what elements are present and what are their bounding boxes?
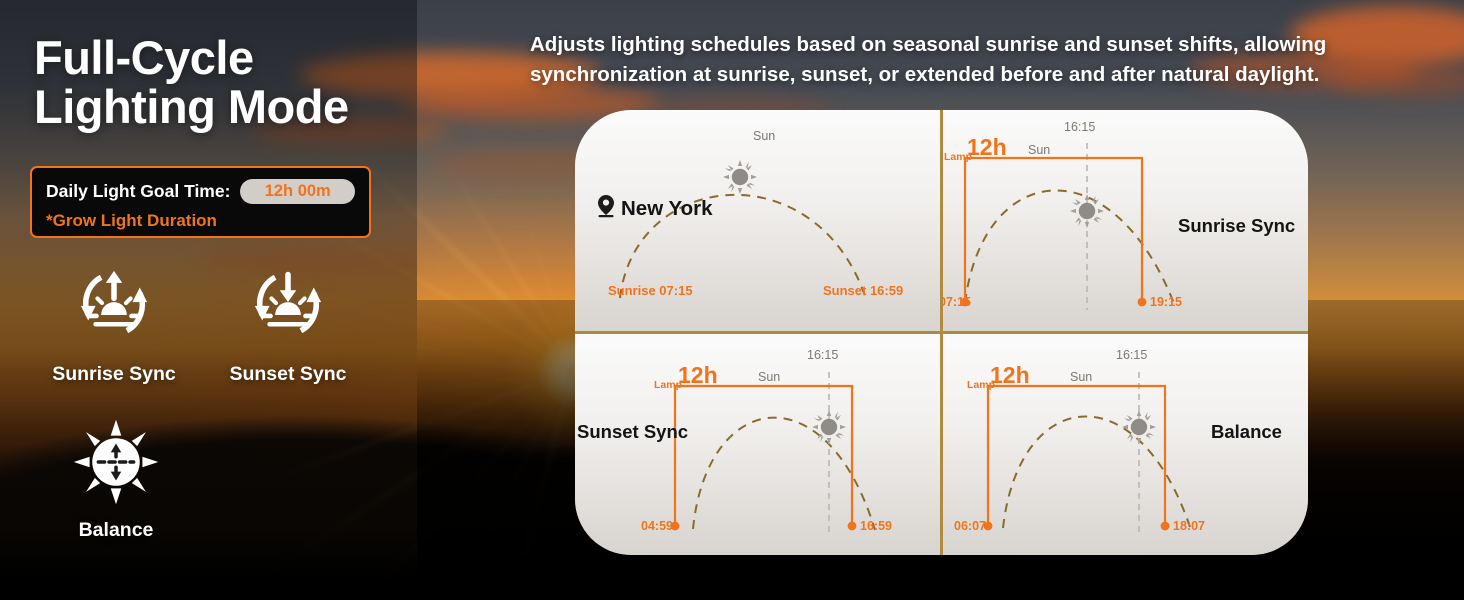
sun-glyph-icon [1070,194,1104,233]
page-title-line1: Full-Cycle [34,31,254,84]
sun-label: Sun [1028,143,1050,157]
sun-label: Sun [758,370,780,384]
marker-time-label: 16:15 [1064,120,1095,134]
panel-mode-name: Balance [1211,421,1282,443]
mode-sunrise-sync[interactable]: Sunrise Sync [38,258,190,386]
mode-balance[interactable]: Balance [40,418,192,542]
daily-light-goal-box: Daily Light Goal Time: 12h 00m *Grow Lig… [30,166,371,238]
marker-time-label: 16:15 [1116,348,1147,362]
mode-balance-label: Balance [40,519,192,542]
lamp-start-time: 06:07 [954,519,986,533]
lamp-start-time: 04:59 [641,519,673,533]
panel-balance: 16:15 12h Lamp Sun 06:07 18:07 Balance [943,334,1308,555]
lamp-end-time: 16:59 [860,519,892,533]
lamp-label: Lamp [967,379,995,391]
sun-glyph-icon [812,410,846,449]
page-title-line2: Lighting Mode [34,83,414,132]
mode-sunset-sync[interactable]: Sunset Sync [212,258,364,386]
headline-description: Adjusts lighting schedules based on seas… [530,30,1390,89]
lamp-label: Lamp [944,151,972,163]
infographic-root: Full-Cycle Lighting Mode Daily Light Goa… [0,0,1464,600]
diagram-panel-grid: New York Sun Sunrise 07:15 Sunset 16:59 [575,110,1308,555]
sun-glyph-icon [723,160,757,199]
location-pin-icon [597,194,615,224]
sunset-time-label: Sunset 16:59 [823,283,903,298]
grow-light-duration-note: *Grow Light Duration [46,211,355,231]
lamp-end-time: 19:15 [1150,295,1182,309]
panel-new-york: New York Sun Sunrise 07:15 Sunset 16:59 [575,110,940,331]
daily-light-goal-row: Daily Light Goal Time: 12h 00m [46,179,355,204]
mode-sunset-sync-label: Sunset Sync [212,363,364,386]
sunset-sync-icon [212,258,364,355]
panel-sunrise-sync: 16:15 12h Lamp Sun 07:15 19:15 Sunrise S… [943,110,1308,331]
sun-label: Sun [753,129,775,143]
lamp-hours-value: 12h [967,134,1007,161]
lamp-hours-value: 12h [678,362,718,389]
daily-light-goal-value[interactable]: 12h 00m [240,179,355,204]
left-hero-column: Full-Cycle Lighting Mode Daily Light Goa… [0,0,417,600]
lamp-end-time: 18:07 [1173,519,1205,533]
sunrise-time-label: Sunrise 07:15 [608,283,693,298]
mode-sunrise-sync-label: Sunrise Sync [38,363,190,386]
panel-sunset-sync: 16:15 12h Lamp Sun 04:59 16:59 Sunset Sy… [575,334,940,555]
sun-label: Sun [1070,370,1092,384]
page-title: Full-Cycle Lighting Mode [34,34,414,132]
balance-icon [40,418,192,511]
city-location: New York [597,194,713,224]
city-name: New York [621,197,713,221]
daily-light-goal-label: Daily Light Goal Time: [46,181,230,202]
sunrise-sync-icon [38,258,190,355]
panel-mode-name: Sunset Sync [577,421,688,443]
lamp-hours-value: 12h [990,362,1030,389]
panel-mode-name: Sunrise Sync [1178,215,1295,237]
lamp-label: Lamp [654,379,682,391]
lamp-start-time: 07:15 [943,295,971,309]
marker-time-label: 16:15 [807,348,838,362]
sun-glyph-icon [1122,410,1156,449]
